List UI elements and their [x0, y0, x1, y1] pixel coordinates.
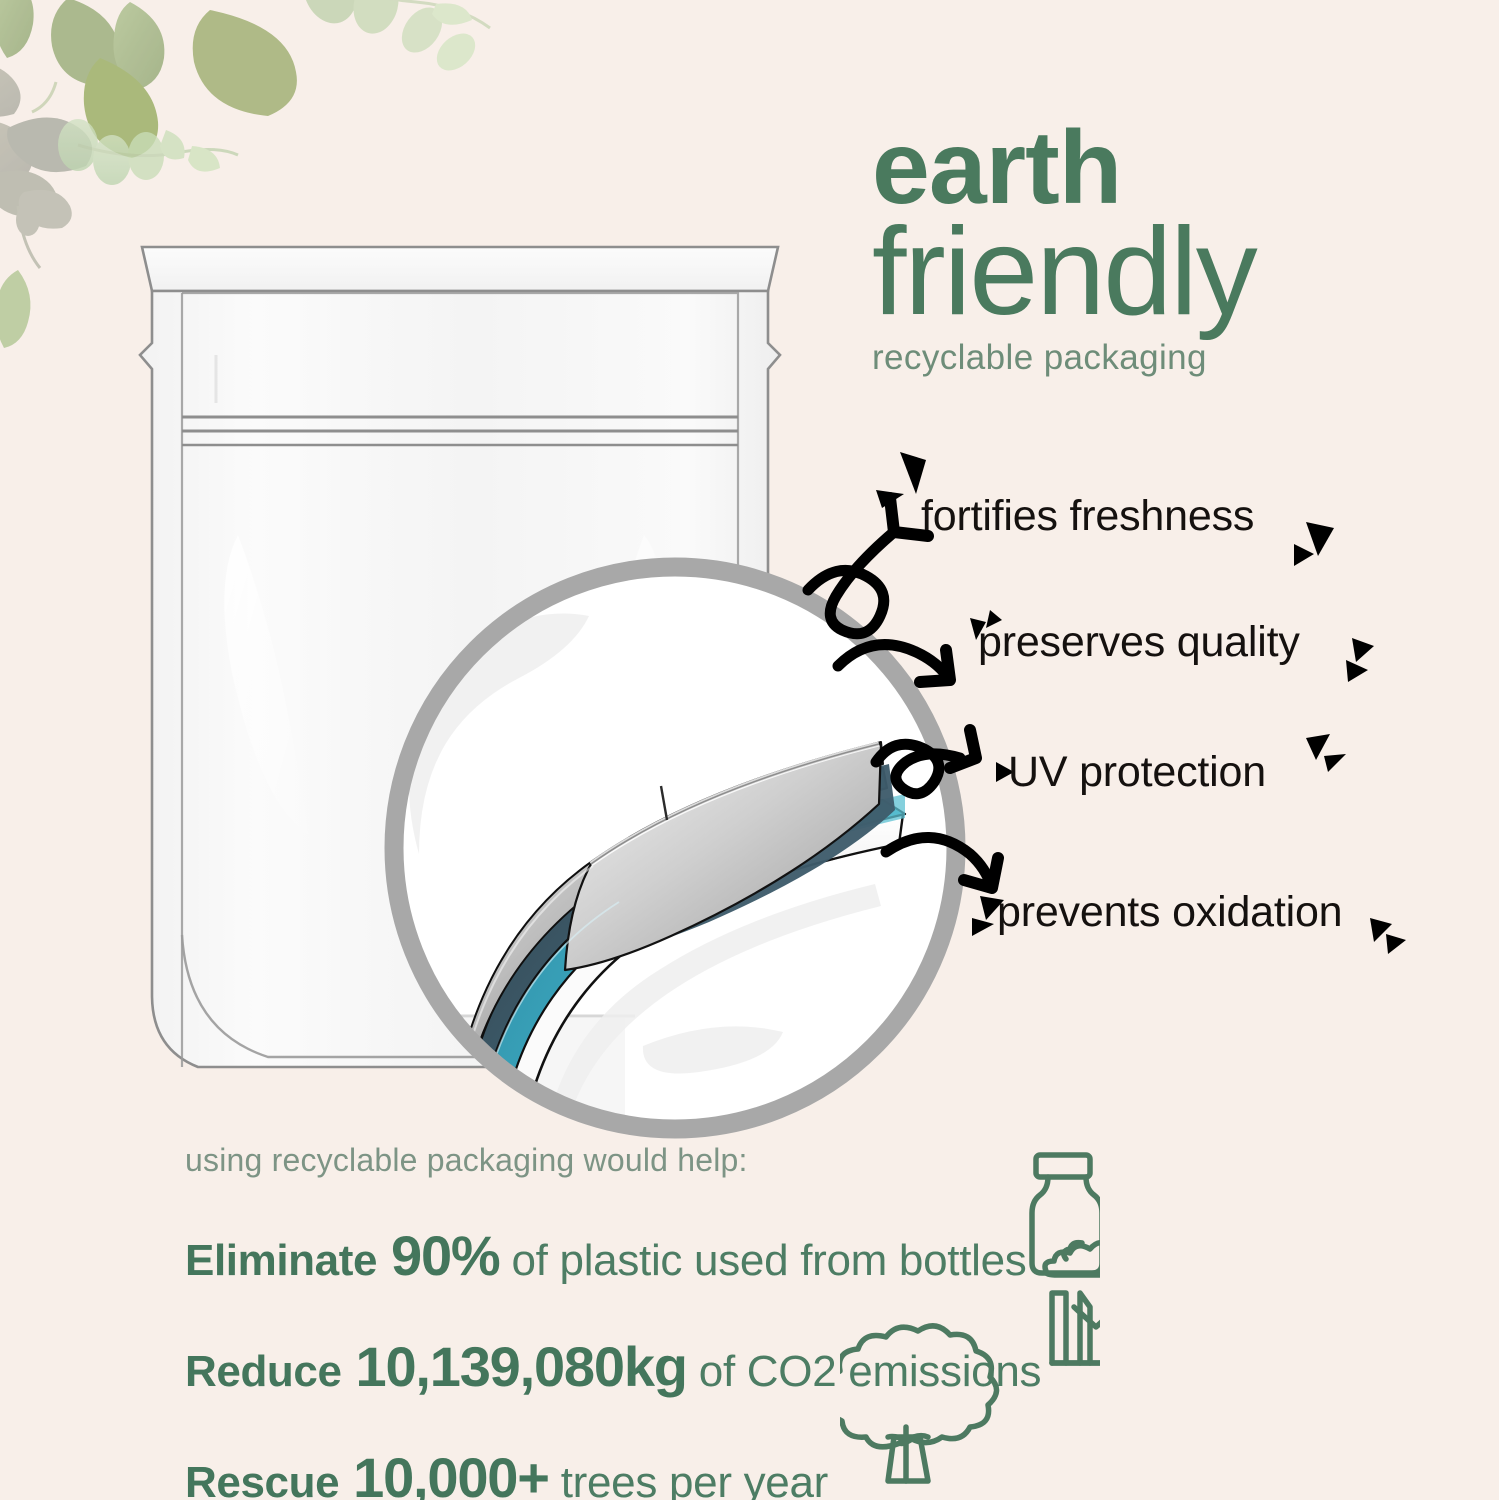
feature-label-prevents-oxidation: prevents oxidation	[997, 888, 1342, 937]
headline-line-2: friendly	[872, 214, 1482, 332]
stat-verb: Reduce	[185, 1347, 342, 1397]
feature-label-fortifies-freshness: fortifies freshness	[921, 492, 1254, 541]
stat-value: 10,000+	[353, 1445, 549, 1500]
stat-value: 90%	[391, 1223, 499, 1288]
stats-lead-text: using recyclable packaging would help:	[185, 1142, 1445, 1179]
infographic-canvas: earth friendly recyclable packaging fort…	[0, 0, 1499, 1500]
feature-label-uv-protection: UV protection	[1008, 748, 1266, 797]
stat-tail: trees per year	[561, 1458, 828, 1500]
stat-value: 10,139,080kg	[356, 1334, 687, 1399]
stat-row-rescue: Rescue 10,000+ trees per year	[185, 1445, 1445, 1500]
stat-verb: Eliminate	[185, 1236, 377, 1286]
stat-row-eliminate: Eliminate 90% of plastic used from bottl…	[185, 1223, 1445, 1288]
headline-subtitle: recyclable packaging	[872, 338, 1482, 378]
impact-stats-block: using recyclable packaging would help: E…	[185, 1142, 1445, 1500]
feature-label-preserves-quality: preserves quality	[978, 618, 1300, 667]
stat-icons-group	[840, 1145, 1100, 1495]
stat-row-reduce: Reduce 10,139,080kg of CO2 emissions	[185, 1334, 1445, 1399]
page-title-block: earth friendly recyclable packaging	[872, 118, 1482, 378]
tree-icon	[840, 1326, 997, 1481]
factory-icon	[1045, 1242, 1100, 1363]
stat-verb: Rescue	[185, 1458, 339, 1500]
